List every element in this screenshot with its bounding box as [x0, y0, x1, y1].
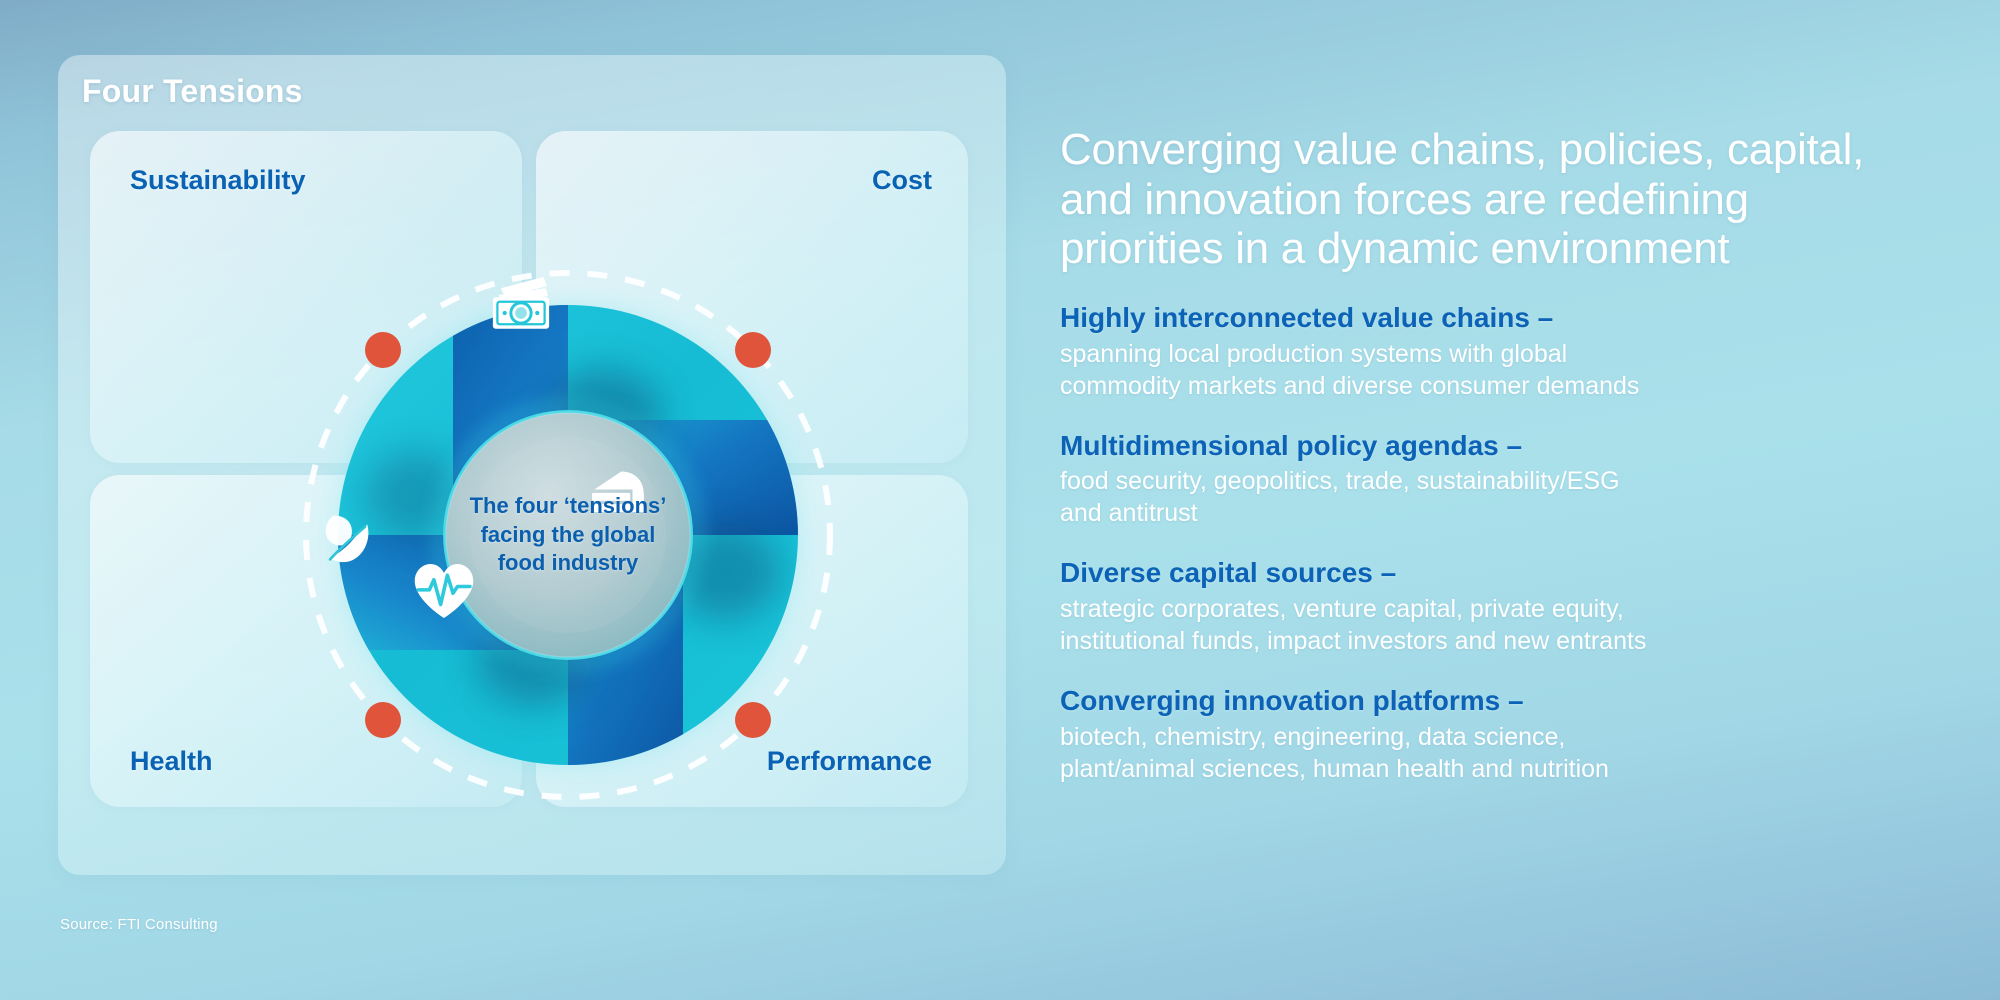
bullet-body-line: and antitrust: [1060, 497, 1950, 529]
bullet-dash: –: [1499, 430, 1522, 461]
bullet-heading-text: Highly interconnected value chains: [1060, 302, 1530, 333]
speedometer-icon: [583, 458, 655, 530]
source-note: Source: FTI Consulting: [60, 916, 218, 933]
heart-pulse-icon: [408, 555, 480, 627]
bullet-heading: Diverse capital sources –: [1060, 556, 1950, 590]
leaf-icon: [311, 502, 383, 574]
bullet-body: strategic corporates, venture capital, p…: [1060, 593, 1950, 657]
red-dot-marker: [365, 332, 401, 368]
bullet-dash: –: [1508, 685, 1524, 716]
bullet-dash: –: [1530, 302, 1553, 333]
bullet-item: Highly interconnected value chains – spa…: [1060, 301, 1950, 402]
bullet-item: Diverse capital sources – strategic corp…: [1060, 556, 1950, 657]
bullet-body-line: plant/animal sciences, human health and …: [1060, 753, 1950, 785]
headline: Converging value chains, policies, capit…: [1060, 125, 1950, 274]
bullet-body-line: commodity markets and diverse consumer d…: [1060, 370, 1950, 402]
bullet-body: biotech, chemistry, engineering, data sc…: [1060, 721, 1950, 785]
bullet-dash: –: [1373, 557, 1396, 588]
bullet-heading: Highly interconnected value chains –: [1060, 301, 1950, 335]
headline-line-3: priorities in a dynamic environment: [1060, 224, 1950, 274]
bullet-body-line: food security, geopolitics, trade, susta…: [1060, 465, 1950, 497]
headline-line-2: and innovation forces are redefining: [1060, 175, 1950, 225]
red-dot-marker: [735, 332, 771, 368]
bullet-body-line: strategic corporates, venture capital, p…: [1060, 593, 1950, 625]
quadrant-label-sustainability: Sustainability: [130, 165, 306, 196]
red-dot-marker: [735, 702, 771, 738]
bullet-body: spanning local production systems with g…: [1060, 338, 1950, 402]
quadrant-label-cost: Cost: [872, 165, 932, 196]
quadrant-label-health: Health: [130, 746, 213, 777]
bullet-body: food security, geopolitics, trade, susta…: [1060, 465, 1950, 529]
bullet-heading: Multidimensional policy agendas –: [1060, 429, 1950, 463]
four-tensions-panel: Four Tensions Sustainability Cost Health…: [58, 55, 1006, 875]
bullet-heading: Converging innovation platforms –: [1060, 684, 1950, 718]
right-content-column: Converging value chains, policies, capit…: [1060, 125, 1950, 785]
bullet-body-line: institutional funds, impact investors an…: [1060, 625, 1950, 657]
red-dot-marker: [365, 702, 401, 738]
bullet-heading-text: Multidimensional policy agendas: [1060, 430, 1499, 461]
bullet-body-line: spanning local production systems with g…: [1060, 338, 1950, 370]
bullet-item: Multidimensional policy agendas – food s…: [1060, 429, 1950, 530]
page-title: Four Tensions: [82, 73, 303, 110]
bullet-body-line: biotech, chemistry, engineering, data sc…: [1060, 721, 1950, 753]
bullet-item: Converging innovation platforms – biotec…: [1060, 684, 1950, 785]
headline-line-1: Converging value chains, policies, capit…: [1060, 125, 1950, 175]
four-tensions-donut-diagram: The four ‘tensions’ facing the global fo…: [273, 240, 863, 830]
bullet-heading-text: Diverse capital sources: [1060, 557, 1373, 588]
bullet-heading-text: Converging innovation platforms: [1060, 685, 1508, 716]
cash-icon: [485, 268, 557, 340]
